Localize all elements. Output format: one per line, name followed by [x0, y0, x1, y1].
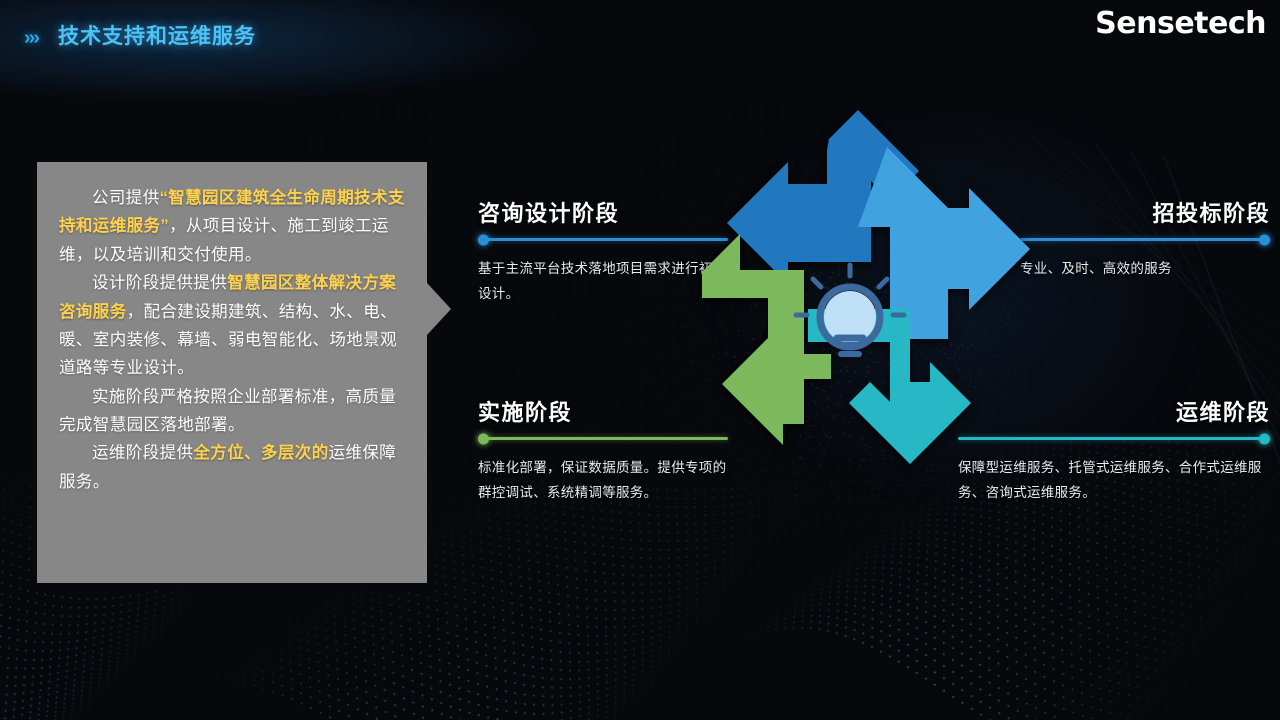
- panel-paragraph: 公司提供“智慧园区建筑全生命周期技术支持和运维服务”，从项目设计、施工到竣工运维…: [59, 184, 405, 269]
- body-text: 设计阶段提供提供: [92, 274, 227, 292]
- panel-paragraph: 运维阶段提供全方位、多层次的运维保障服务。: [59, 439, 405, 496]
- body-text: 实施阶段严格按照企业部署标准，高质量完成智慧园区落地部署。: [59, 388, 396, 434]
- stage-divider-dot: [1259, 234, 1270, 245]
- cycle-diagram: [628, 96, 1078, 566]
- panel-paragraph: 设计阶段提供提供智慧园区整体解决方案咨询服务，配合建设期建筑、结构、水、电、暖、…: [59, 269, 405, 383]
- panel-paragraph-list: 公司提供“智慧园区建筑全生命周期技术支持和运维服务”，从项目设计、施工到竣工运维…: [59, 184, 405, 496]
- highlighted-text: 全方位、多层次的: [193, 444, 328, 462]
- brand-logo: Sensetech: [1095, 9, 1266, 39]
- body-text: 公司提供: [92, 189, 160, 207]
- page-title: 技术支持和运维服务: [58, 26, 256, 47]
- stage-divider-dot: [1259, 433, 1270, 444]
- panel-pointer-arrow: [427, 283, 451, 335]
- body-text: 运维阶段提供: [92, 444, 193, 462]
- slide-header: ››› 技术支持和运维服务 Sensetech: [0, 0, 1280, 58]
- chevron-right-icon: ›››: [24, 28, 38, 48]
- panel-paragraph: 实施阶段严格按照企业部署标准，高质量完成智慧园区落地部署。: [59, 383, 405, 440]
- stage-divider-dot: [478, 234, 489, 245]
- description-panel: 公司提供“智慧园区建筑全生命周期技术支持和运维服务”，从项目设计、施工到竣工运维…: [37, 162, 427, 583]
- stage-divider-dot: [478, 433, 489, 444]
